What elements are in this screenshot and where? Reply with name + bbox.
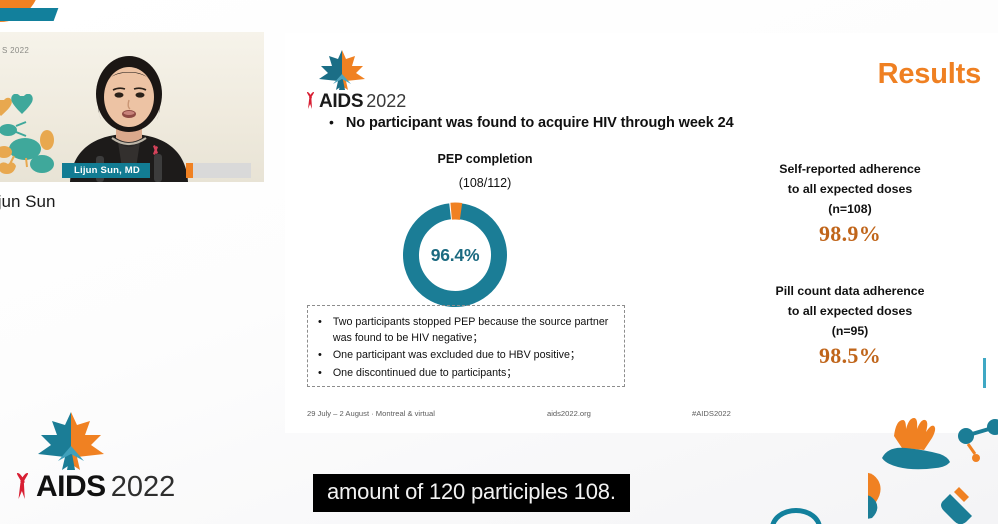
notes-box: • Two participants stopped PEP because t… — [307, 305, 625, 387]
bullet-marker-icon: • — [329, 115, 334, 129]
footer-hashtag: #AIDS2022 — [692, 409, 731, 418]
event-branding-aids-text: AIDS — [36, 470, 106, 504]
decorative-bird-molecule-graphic — [868, 414, 998, 524]
speaker-nameplate: Lijun Sun, MD — [62, 163, 150, 178]
note-item-text: One discontinued due to participants； — [333, 366, 517, 382]
pep-chart-title: PEP completion — [390, 152, 580, 166]
corner-decoration-teal — [0, 8, 58, 21]
slide-aids-logo: AIDS 2022 — [305, 50, 411, 112]
screen-root: S 2022 — [0, 0, 998, 524]
slide-logo-year-text: 2022 — [366, 91, 406, 112]
stat-sample-size: (n=108) — [735, 199, 965, 220]
speaker-video-panel[interactable]: S 2022 — [0, 32, 264, 182]
note-bullet-icon: • — [318, 366, 322, 381]
note-item: • Two participants stopped PEP because t… — [318, 315, 614, 346]
pep-donut-chart: 96.4% — [396, 196, 514, 314]
edge-accent-teal — [983, 358, 986, 388]
stat-self-reported-adherence: Self-reported adherence to all expected … — [735, 159, 965, 248]
slide-main-bullet-text: No participant was found to acquire HIV … — [346, 115, 734, 131]
note-item-text: Two participants stopped PEP because the… — [333, 315, 614, 346]
subtitle-caption: amount of 120 participles 108. — [313, 474, 630, 512]
slide-logo-wordmark: AIDS 2022 — [305, 90, 406, 113]
stat-value: 98.5% — [735, 342, 965, 370]
video-corner-logo-text: S 2022 — [2, 46, 29, 55]
event-branding-logo: AIDS 2022 — [14, 412, 174, 504]
presentation-slide: AIDS 2022 Results • No participant was f… — [285, 33, 998, 433]
stat-line-2: to all expected doses — [735, 301, 965, 321]
slide-logo-aids-text: AIDS — [319, 91, 363, 113]
slide-main-bullet: • No participant was found to acquire HI… — [329, 115, 734, 131]
stat-line-1: Self-reported adherence — [735, 159, 965, 179]
red-ribbon-icon-large — [14, 473, 31, 499]
note-bullet-icon: • — [318, 348, 322, 363]
stat-pill-count-adherence: Pill count data adherence to all expecte… — [735, 281, 965, 370]
red-ribbon-icon — [305, 92, 316, 109]
stat-value: 98.9% — [735, 220, 965, 248]
nameplate-accent — [186, 163, 193, 178]
pep-chart-subtitle: (108/112) — [390, 176, 580, 190]
note-bullet-icon: • — [318, 315, 322, 330]
slide-title: Results — [878, 58, 981, 91]
stat-line-1: Pill count data adherence — [735, 281, 965, 301]
event-branding-year-text: 2022 — [111, 471, 176, 504]
stat-line-2: to all expected doses — [735, 179, 965, 199]
note-item: • One participant was excluded due to HB… — [318, 348, 614, 364]
note-item-text: One participant was excluded due to HBV … — [333, 348, 581, 364]
footer-dates: 29 July – 2 August · Montreal & virtual — [307, 409, 547, 418]
maple-leaf-icon-large — [38, 412, 104, 470]
maple-leaf-icon — [319, 50, 365, 90]
stat-sample-size: (n=95) — [735, 321, 965, 342]
footer-website: aids2022.org — [547, 409, 692, 418]
nameplate-tail — [193, 163, 251, 178]
speaker-name-label: ijun Sun — [0, 192, 55, 212]
donut-center-value: 96.4% — [396, 196, 514, 314]
note-item: • One discontinued due to participants； — [318, 366, 614, 382]
speaker-nameplate-text: Lijun Sun, MD — [74, 165, 140, 176]
event-branding-wordmark: AIDS 2022 — [14, 470, 175, 504]
